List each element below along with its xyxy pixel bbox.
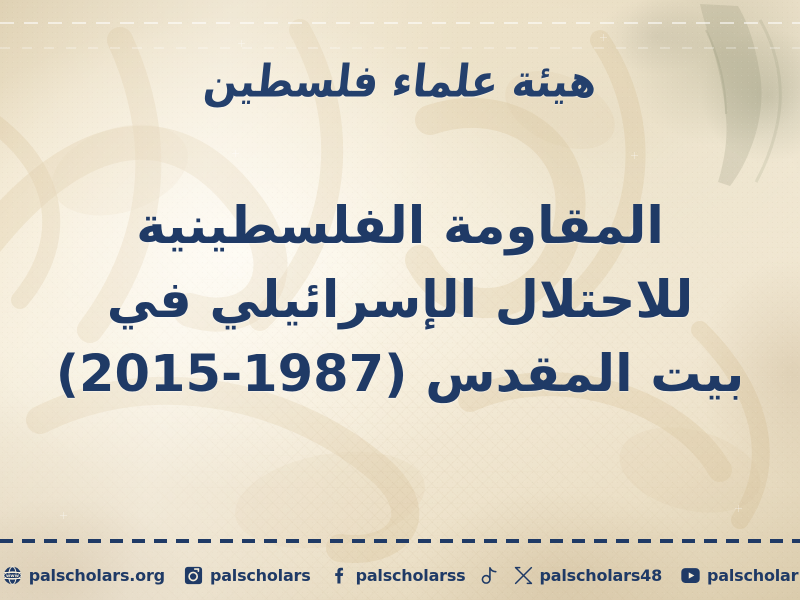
footer-dashed-separator: [0, 539, 800, 543]
facebook-icon: [329, 565, 350, 586]
poster-title-line-2: للاحتلال الإسرائيلي في: [34, 271, 766, 331]
organization-logo-text: هيئة علماء فلسطين: [201, 60, 599, 105]
globe-www-icon: www: [2, 565, 23, 586]
footer-item-youtube[interactable]: palscholar: [680, 565, 798, 586]
instagram-icon: [183, 565, 204, 586]
youtube-icon: [680, 565, 701, 586]
tiktok-icon: [479, 565, 500, 586]
footer-social-bar: palscholar palscholars48: [0, 558, 800, 592]
footer-item-x-twitter[interactable]: palscholars48: [513, 565, 663, 586]
x-twitter-icon: [513, 565, 534, 586]
organization-logo: هيئة علماء فلسطين: [0, 46, 800, 118]
footer-item-tiktok[interactable]: [479, 565, 500, 586]
footer-label-website: palscholars.org: [29, 566, 165, 585]
poster-title-line-3: بيت المقدس (1987-2015): [34, 345, 766, 405]
poster-title: المقاومة الفلسطينية للاحتلال الإسرائيلي …: [34, 197, 766, 406]
footer-label-youtube: palscholar: [707, 566, 798, 585]
footer-item-facebook[interactable]: palscholarss: [329, 565, 466, 586]
footer-label-x-twitter: palscholars48: [540, 566, 663, 585]
footer-item-instagram[interactable]: palscholars: [183, 565, 311, 586]
svg-text:www: www: [6, 574, 20, 579]
footer-label-facebook: palscholarss: [356, 566, 466, 585]
footer-label-instagram: palscholars: [210, 566, 311, 585]
poster-title-line-1: المقاومة الفلسطينية: [34, 197, 766, 257]
poster-canvas: هيئة علماء فلسطين المقاومة الفلسطينية لل…: [0, 0, 800, 600]
footer-item-website[interactable]: www palscholars.org: [2, 565, 165, 586]
top-decorative-rule: [0, 22, 800, 24]
